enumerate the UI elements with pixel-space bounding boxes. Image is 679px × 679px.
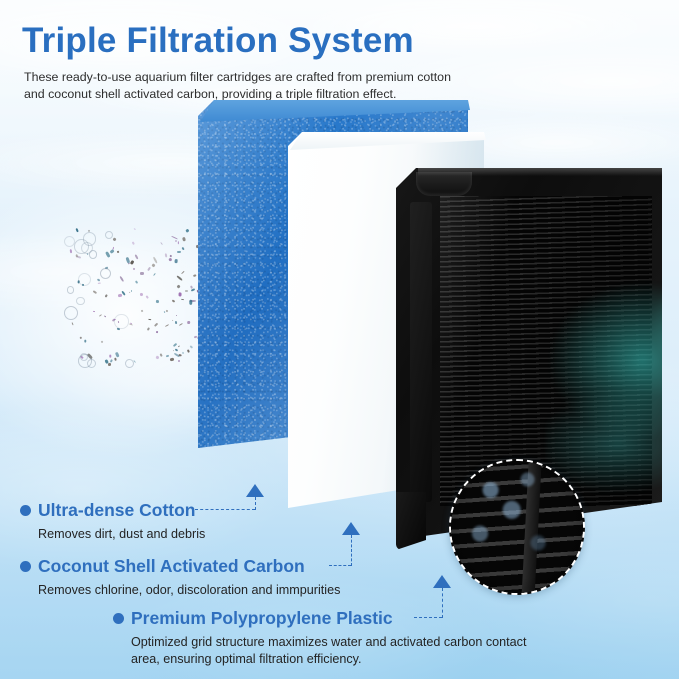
leader-arrow-cotton [246, 484, 264, 497]
product-infographic: Triple Filtration System These ready-to-… [0, 0, 679, 679]
leader-line-cotton [195, 509, 255, 510]
grid-detail-magnifier [449, 459, 585, 595]
frame-top-sheen [418, 168, 662, 176]
grid-shading [440, 196, 652, 506]
feature-description: Removes dirt, dust and debris [38, 526, 205, 543]
feature-coconut-shell-carbon: Coconut Shell Activated Carbon Removes c… [20, 556, 340, 599]
bullet-circle-icon [20, 505, 31, 516]
leader-stem-plastic [442, 588, 443, 618]
bullet-circle-icon [20, 561, 31, 572]
feature-heading: Ultra-dense Cotton [20, 500, 205, 521]
leader-arrow-plastic [433, 575, 451, 588]
magnifier-vignette [451, 461, 583, 593]
feature-title: Coconut Shell Activated Carbon [38, 556, 305, 577]
frame-left-rail [410, 202, 432, 502]
bullet-circle-icon [113, 613, 124, 624]
feature-description: Removes chlorine, odor, discoloration an… [38, 582, 340, 599]
leader-line-carbon [329, 565, 351, 566]
frame-bottom-foot [396, 492, 426, 550]
feature-ultra-dense-cotton: Ultra-dense Cotton Removes dirt, dust an… [20, 500, 205, 543]
leader-stem-cotton [255, 497, 256, 510]
leader-arrow-carbon [342, 522, 360, 535]
feature-title: Ultra-dense Cotton [38, 500, 196, 521]
feature-title: Premium Polypropylene Plastic [131, 608, 393, 629]
feature-description: Optimized grid structure maximizes water… [131, 634, 531, 667]
leader-stem-carbon [351, 535, 352, 566]
feature-heading: Coconut Shell Activated Carbon [20, 556, 340, 577]
leader-line-plastic [414, 617, 442, 618]
feature-polypropylene-plastic: Premium Polypropylene Plastic Optimized … [113, 608, 531, 667]
feature-heading: Premium Polypropylene Plastic [113, 608, 531, 629]
